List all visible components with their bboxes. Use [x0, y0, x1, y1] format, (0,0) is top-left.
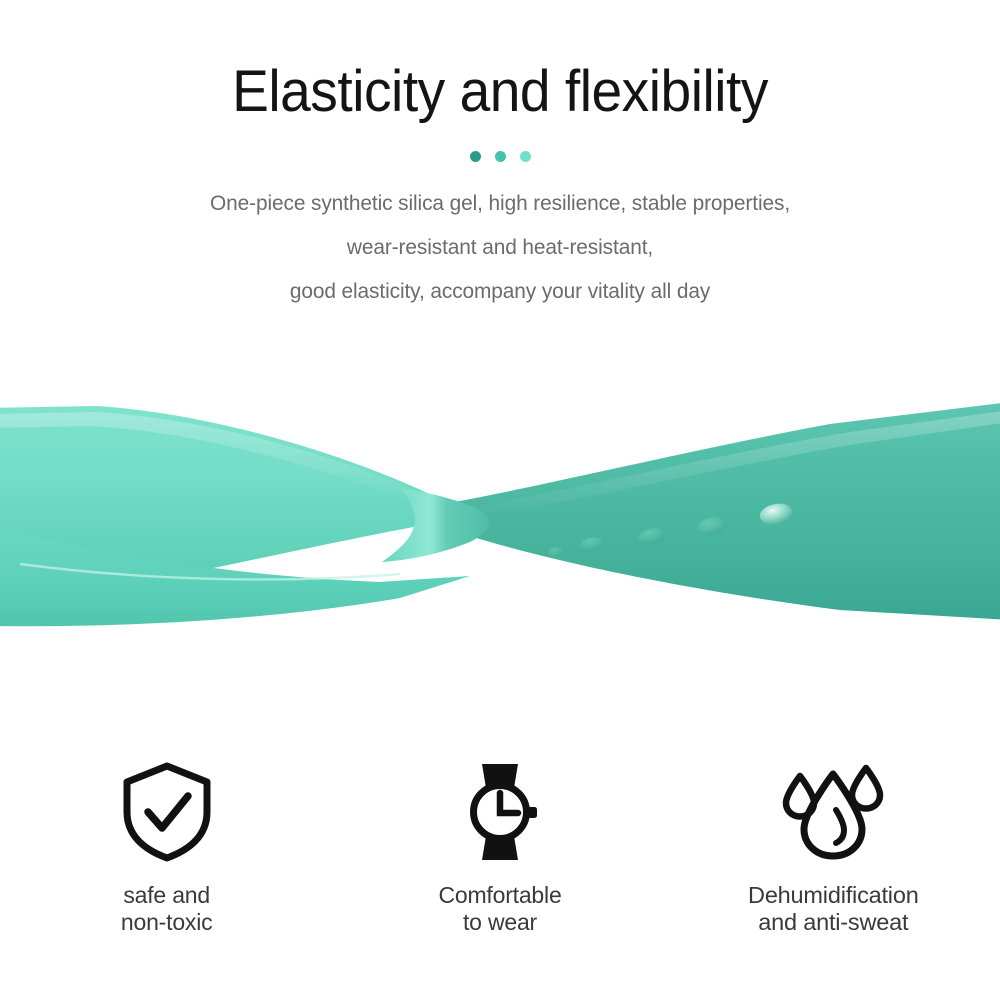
- feature-caption: safe and non-toxic: [121, 882, 213, 936]
- shield-check-icon: [119, 760, 215, 864]
- feature-caption: Comfortable to wear: [438, 882, 561, 936]
- product-image: [0, 376, 1000, 676]
- subtitle-line-1: One-piece synthetic silica gel, high res…: [15, 181, 985, 225]
- feature-caption-line-2: to wear: [438, 909, 561, 936]
- feature-caption-line-2: non-toxic: [121, 909, 213, 936]
- feature-caption: Dehumidification and anti-sweat: [748, 882, 919, 936]
- feature-caption-line-2: and anti-sweat: [748, 909, 919, 936]
- feature-caption-line-1: Comfortable: [438, 882, 561, 909]
- feature-row: safe and non-toxic: [0, 760, 1000, 936]
- twisted-band-illustration: [0, 376, 1000, 676]
- accent-dot-group: [0, 151, 1000, 163]
- feature-safe-non-toxic: safe and non-toxic: [0, 760, 333, 936]
- feature-comfortable-to-wear: Comfortable to wear: [333, 760, 666, 936]
- feature-dehumidification: Dehumidification and anti-sweat: [667, 760, 1000, 936]
- accent-dot-light: [520, 151, 531, 162]
- feature-caption-line-1: safe and: [121, 882, 213, 909]
- feature-icon-wrapper: [778, 760, 888, 864]
- accent-dot-dark: [470, 151, 481, 162]
- header-block: Elasticity and flexibility One-piece syn…: [0, 0, 1000, 313]
- feature-caption-line-1: Dehumidification: [748, 882, 919, 909]
- subtitle-line-3: good elasticity, accompany your vitality…: [15, 269, 985, 313]
- feature-icon-wrapper: [452, 760, 548, 864]
- product-feature-banner: Elasticity and flexibility One-piece syn…: [0, 0, 1000, 1000]
- feature-icon-wrapper: [119, 760, 215, 864]
- page-title: Elasticity and flexibility: [25, 0, 975, 123]
- wristwatch-icon: [452, 760, 548, 864]
- accent-dot-mid: [495, 151, 506, 162]
- subtitle-block: One-piece synthetic silica gel, high res…: [0, 163, 1000, 313]
- water-droplets-icon: [778, 760, 888, 864]
- subtitle-line-2: wear-resistant and heat-resistant,: [15, 225, 985, 269]
